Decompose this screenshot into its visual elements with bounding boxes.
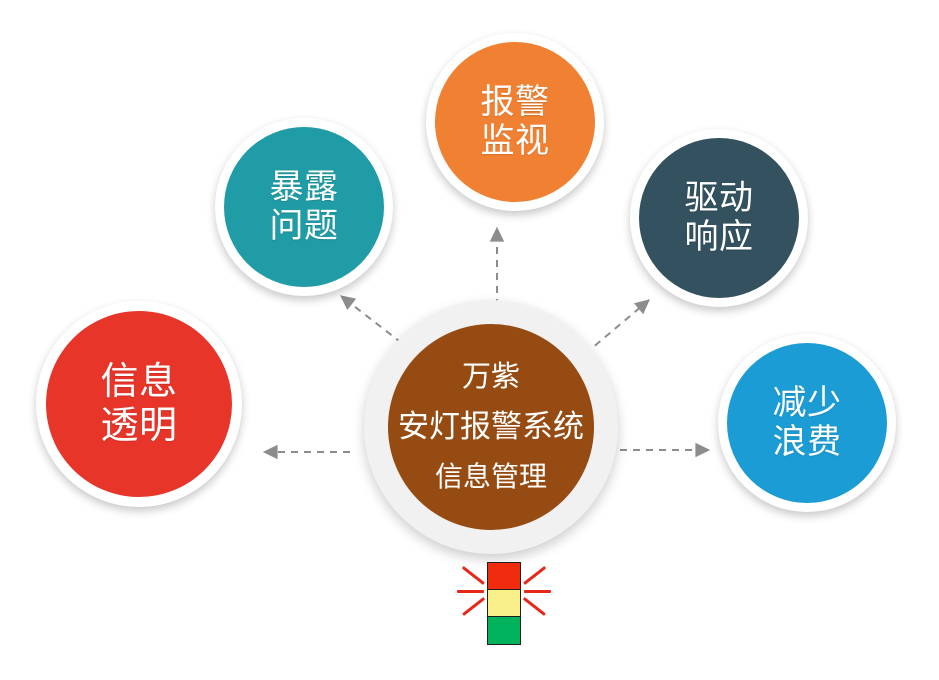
node-information-transparency-line1: 信息 xyxy=(100,360,177,404)
node-information-transparency-line2: 透明 xyxy=(100,404,177,448)
connector-to-drive-response xyxy=(585,300,649,354)
andon-spark-mid-right xyxy=(524,590,551,593)
center-hub[interactable]: 万紫 安灯报警系统 信息管理 xyxy=(364,300,618,554)
andon-stack xyxy=(487,562,521,645)
node-drive-response-line1: 驱动 xyxy=(685,179,754,218)
node-drive-response[interactable]: 驱动 响应 xyxy=(630,129,808,307)
andon-spark-upper-right xyxy=(523,566,546,585)
node-expose-problems-line2: 问题 xyxy=(270,207,339,246)
andon-spark-upper-left xyxy=(462,566,485,585)
andon-spark-lower-right xyxy=(523,597,546,616)
node-alarm-monitoring-disc: 报警 监视 xyxy=(435,42,595,202)
node-alarm-monitoring-line2: 监视 xyxy=(481,122,550,161)
node-drive-response-disc: 驱动 响应 xyxy=(639,138,799,298)
node-reduce-waste[interactable]: 减少 浪费 xyxy=(718,334,896,512)
center-hub-line2: 安灯报警系统 xyxy=(398,410,584,444)
node-reduce-waste-line2: 浪费 xyxy=(773,423,842,462)
andon-segment-green xyxy=(488,617,520,644)
diagram-canvas: 报警 监视 暴露 问题 驱动 响应 信息 透明 减少 浪费 万紫 安 xyxy=(0,0,939,680)
node-reduce-waste-disc: 减少 浪费 xyxy=(727,343,887,503)
node-expose-problems-disc: 暴露 问题 xyxy=(224,127,384,287)
node-alarm-monitoring[interactable]: 报警 监视 xyxy=(426,33,604,211)
node-information-transparency-disc: 信息 透明 xyxy=(46,311,232,497)
node-alarm-monitoring-line1: 报警 xyxy=(481,83,550,122)
center-hub-line3: 信息管理 xyxy=(435,462,547,493)
node-information-transparency[interactable]: 信息 透明 xyxy=(36,301,242,507)
node-drive-response-line2: 响应 xyxy=(685,218,754,257)
node-reduce-waste-line1: 减少 xyxy=(773,384,842,423)
node-expose-problems[interactable]: 暴露 问题 xyxy=(215,118,393,296)
andon-segment-yellow xyxy=(488,590,520,617)
center-hub-line1: 万紫 xyxy=(462,362,520,394)
center-hub-disc: 万紫 安灯报警系统 信息管理 xyxy=(388,324,594,530)
andon-spark-mid-left xyxy=(457,590,484,593)
andon-spark-lower-left xyxy=(462,597,485,616)
andon-segment-red xyxy=(488,563,520,590)
node-expose-problems-line1: 暴露 xyxy=(270,168,339,207)
andon-light-tower xyxy=(458,552,550,652)
